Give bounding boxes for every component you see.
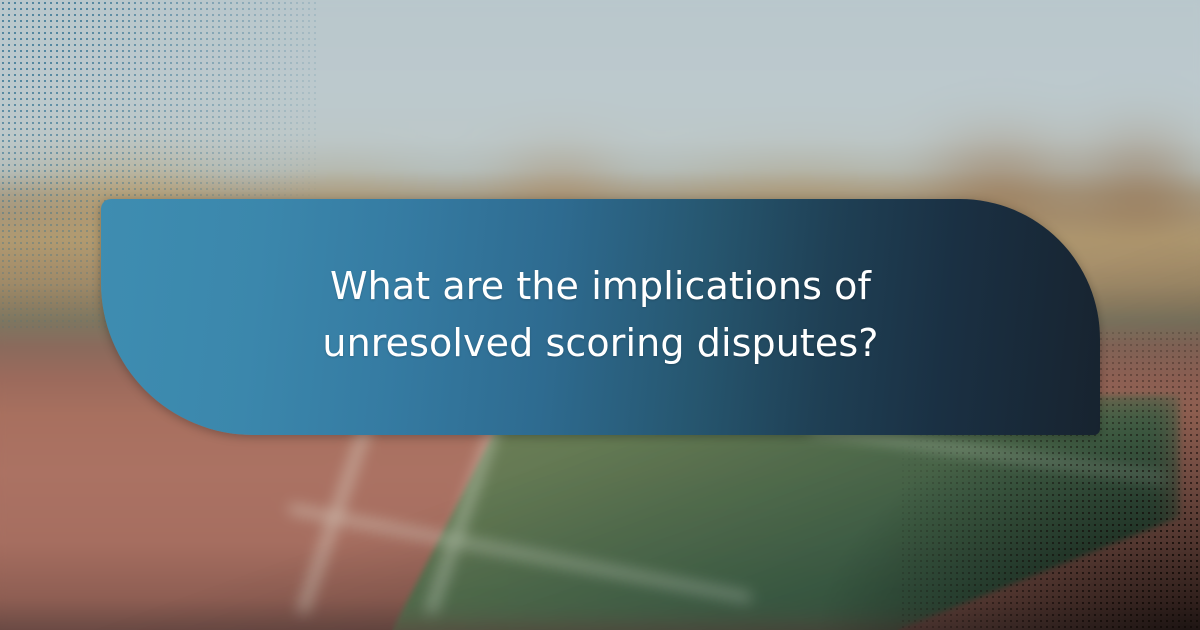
question-title: What are the implications of unresolved …	[231, 258, 971, 372]
field-line	[289, 505, 752, 602]
question-card-content: What are the implications of unresolved …	[231, 258, 971, 376]
screenshot-canvas: What are the implications of unresolved …	[0, 0, 1200, 630]
question-card: What are the implications of unresolved …	[101, 199, 1100, 435]
